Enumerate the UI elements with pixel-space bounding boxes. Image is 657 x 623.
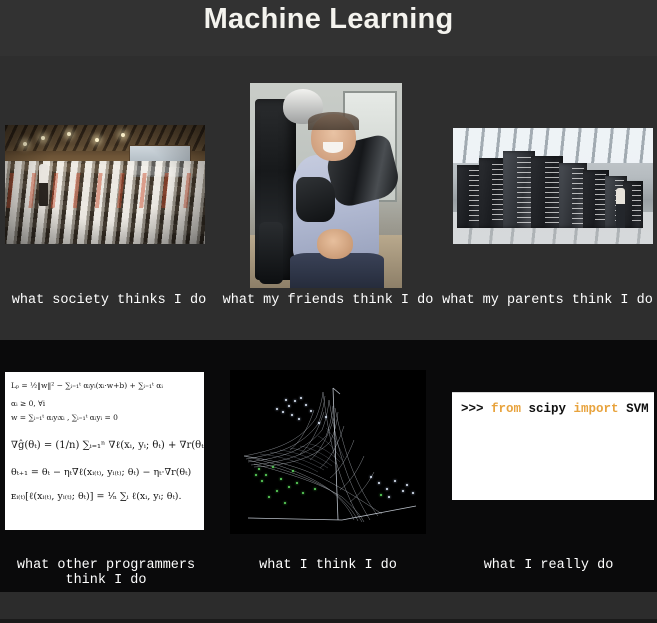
hall-vignette <box>5 125 205 244</box>
page-title: Machine Learning <box>0 3 657 36</box>
caption-parents: what my parents think I do <box>438 293 657 308</box>
man-clasped-hands <box>317 229 353 260</box>
imported-name: SVM <box>619 402 649 416</box>
math-line-6: ᴇᵢ₍ₜ₎[ℓ(xᵢ₍ₜ₎, yᵢ₍ₜ₎; θₜ)] = ¹⁄ₙ ∑ᵢ ℓ(xᵢ… <box>11 491 182 502</box>
keyword-import: import <box>574 402 619 416</box>
footer-edge-line <box>0 619 657 623</box>
math-line-4: ∇ĝ(θₜ) = (1/n) ∑ᵢ₌₁ⁿ ∇ℓ(xᵢ, yᵢ; θₜ) + ∇r… <box>11 440 204 451</box>
python-prompt: >>> <box>461 402 491 416</box>
meme-image-math-equations: Lₚ = ½‖w‖² − ∑ᵢ₌₁ᵗ αᵢyᵢ(xᵢ·w+b) + ∑ᵢ₌₁ᵗ … <box>5 372 204 530</box>
meme-image-society <box>5 125 205 244</box>
server-rack <box>623 181 643 227</box>
datacenter-technician <box>616 188 625 228</box>
code-line: >>> from scipy import SVM <box>461 402 649 416</box>
meme-image-parents <box>453 128 653 244</box>
man-smile <box>323 142 343 152</box>
man-hair <box>308 112 360 130</box>
caption-other-programmers: what other programmers think I do <box>0 558 212 588</box>
manifold-svg <box>230 370 426 534</box>
math-line-5: θₜ₊₁ = θₜ − ηₜ∇ℓ(xᵢ₍ₜ₎, yᵢ₍ₜ₎; θₜ) − ηₜ·… <box>11 467 191 478</box>
robot-lower-arm <box>259 222 283 284</box>
meme-image-friends <box>250 83 402 288</box>
meme-image-manifold-plot <box>230 370 426 534</box>
keyword-from: from <box>491 402 521 416</box>
caption-friends: what my friends think I do <box>222 293 434 308</box>
math-line-3: w = ∑ᵢ₌₁ᵗ αᵢyᵢxᵢ , ∑ᵢ₌₁ᵗ αᵢyᵢ = 0 <box>11 413 118 422</box>
math-line-1: Lₚ = ½‖w‖² − ∑ᵢ₌₁ᵗ αᵢyᵢ(xᵢ·w+b) + ∑ᵢ₌₁ᵗ … <box>11 381 163 390</box>
meme-image-python-console: >>> from scipy import SVM <box>452 392 654 500</box>
caption-society: what society thinks I do <box>0 293 218 308</box>
caption-i-think: what I think I do <box>222 558 434 573</box>
module-name: scipy <box>521 402 574 416</box>
math-line-2: αᵢ ≥ 0, ∀i <box>11 399 45 408</box>
robot-hand <box>296 177 336 222</box>
caption-i-really-do: what I really do <box>440 558 657 573</box>
